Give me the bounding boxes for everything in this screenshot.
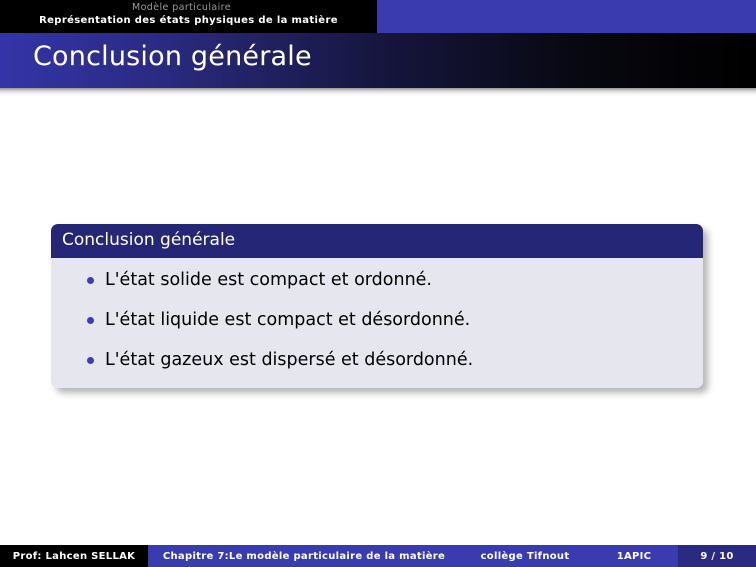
slide-footer: Prof: Lahcen SELLAK Chapitre 7:Le modèle… bbox=[0, 545, 756, 567]
footer-page-number: 9 / 10 bbox=[678, 545, 756, 567]
list-item: L'état gazeux est dispersé et désordonné… bbox=[67, 348, 687, 372]
footer-chapter: Chapitre 7:Le modèle particulaire de la … bbox=[148, 545, 460, 567]
block-body: L'état solide est compact et ordonné. L'… bbox=[51, 258, 703, 388]
header-subsection-title: Représentation des états physiques de la… bbox=[0, 14, 377, 28]
slide-title-bar: Conclusion générale bbox=[0, 33, 756, 88]
header-active-section[interactable]: Modèle particulaire Représentation des é… bbox=[0, 0, 377, 33]
bullet-dot-icon bbox=[87, 317, 94, 324]
slide-canvas: Conclusion générale L'état solide est co… bbox=[0, 97, 756, 545]
list-item-text: L'état solide est compact et ordonné. bbox=[105, 270, 432, 290]
list-item-text: L'état liquide est compact et désordonné… bbox=[105, 310, 470, 330]
slide-title: Conclusion générale bbox=[33, 41, 312, 72]
block-title: Conclusion générale bbox=[51, 224, 703, 258]
bullet-dot-icon bbox=[87, 277, 94, 284]
slide-title-shadow bbox=[0, 88, 756, 97]
conclusion-bullet-list: L'état solide est compact et ordonné. L'… bbox=[67, 268, 687, 372]
list-item-text: L'état gazeux est dispersé et désordonné… bbox=[105, 350, 473, 370]
list-item: L'état liquide est compact et désordonné… bbox=[67, 308, 687, 332]
list-item: L'état solide est compact et ordonné. bbox=[67, 268, 687, 292]
footer-school: collège Tifnout bbox=[460, 545, 590, 567]
bullet-dot-icon bbox=[87, 357, 94, 364]
conclusion-block: Conclusion générale L'état solide est co… bbox=[51, 224, 703, 388]
footer-class: 1APIC bbox=[590, 545, 678, 567]
presentation-header-bar: Modèle particulaire Représentation des é… bbox=[0, 0, 756, 33]
footer-author: Prof: Lahcen SELLAK bbox=[0, 545, 148, 567]
header-section-title: Modèle particulaire bbox=[0, 1, 377, 14]
